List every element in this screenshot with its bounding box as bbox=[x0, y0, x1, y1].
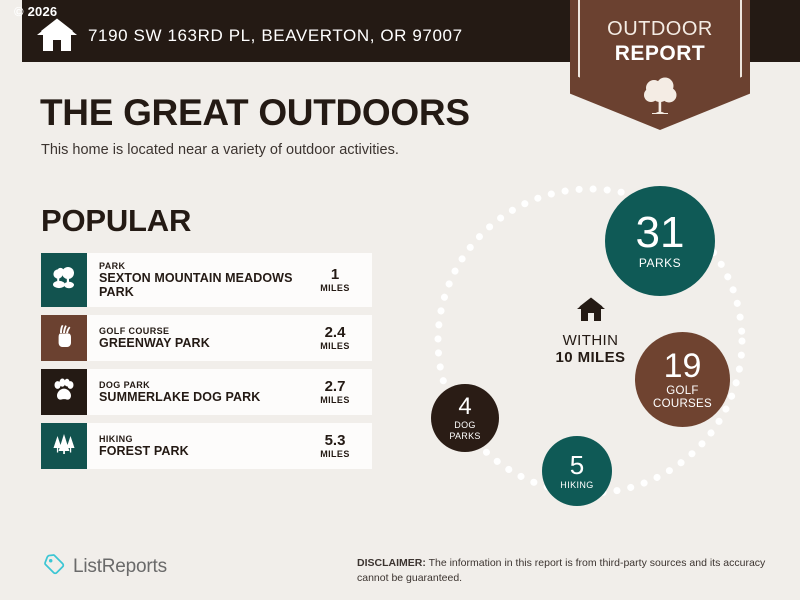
distance-value: 2.4 bbox=[325, 325, 346, 342]
list-item[interactable]: DOG PARK SUMMERLAKE DOG PARK 2.7 MILES bbox=[41, 369, 372, 415]
within-10-miles-diagram: 31 PARKS 19 GOLF COURSES 5 HIKING 4 DOG … bbox=[420, 175, 780, 515]
stat-label: GOLF bbox=[653, 385, 712, 398]
list-item-body: DOG PARK SUMMERLAKE DOG PARK bbox=[87, 369, 304, 415]
diagram-center-line1: WITHIN bbox=[528, 332, 653, 349]
list-item-name: FOREST PARK bbox=[99, 444, 189, 458]
distance-unit: MILES bbox=[320, 395, 350, 405]
list-item-icon-box bbox=[41, 315, 87, 361]
list-item-body: PARK SEXTON MOUNTAIN MEADOWS PARK bbox=[87, 253, 304, 307]
distance-unit: MILES bbox=[320, 449, 350, 459]
list-item-category: HIKING bbox=[99, 434, 189, 444]
pine-trees-icon bbox=[51, 431, 77, 462]
house-icon bbox=[576, 309, 606, 326]
disclaimer: DISCLAIMER: The information in this repo… bbox=[357, 556, 777, 586]
distance-value: 2.7 bbox=[325, 379, 346, 396]
list-item-icon-box bbox=[41, 253, 87, 307]
listreports-logo[interactable]: ListReports bbox=[43, 553, 167, 580]
stat-label-line2: PARKS bbox=[449, 431, 480, 441]
list-item-body: GOLF COURSE GREENWAY PARK bbox=[87, 315, 304, 361]
golf-bag-icon bbox=[51, 323, 77, 354]
list-item-icon-box bbox=[41, 369, 87, 415]
list-item-category: DOG PARK bbox=[99, 380, 260, 390]
stat-value: 19 bbox=[664, 349, 702, 383]
popular-list: PARK SEXTON MOUNTAIN MEADOWS PARK 1 MILE… bbox=[41, 253, 372, 477]
list-item[interactable]: HIKING FOREST PARK 5.3 MILES bbox=[41, 423, 372, 469]
list-item-category: PARK bbox=[99, 261, 293, 271]
outdoor-report-badge: OUTDOOR REPORT bbox=[570, 0, 750, 130]
property-address: 7190 SW 163RD PL, BEAVERTON, OR 97007 bbox=[88, 26, 463, 46]
list-item[interactable]: GOLF COURSE GREENWAY PARK 2.4 MILES bbox=[41, 315, 372, 361]
diagram-center: WITHIN 10 MILES bbox=[528, 297, 653, 366]
distance-value: 5.3 bbox=[325, 433, 346, 450]
disclaimer-label: DISCLAIMER: bbox=[357, 557, 426, 569]
listreports-logo-icon bbox=[43, 553, 65, 580]
tree-icon bbox=[642, 76, 678, 114]
park-trees-icon bbox=[51, 265, 77, 296]
list-item-body: HIKING FOREST PARK bbox=[87, 423, 304, 469]
list-item-name: GREENWAY PARK bbox=[99, 336, 210, 350]
outdoor-report-page: © 2026 7190 SW 163RD PL, BEAVERTON, OR 9… bbox=[0, 0, 800, 600]
copyright-watermark: © 2026 bbox=[14, 4, 57, 19]
list-item-distance: 1 MILES bbox=[304, 253, 372, 307]
badge-line2: REPORT bbox=[570, 42, 750, 66]
stat-value: 31 bbox=[636, 211, 685, 255]
listreports-logo-text: ListReports bbox=[73, 556, 167, 578]
distance-value: 1 bbox=[331, 267, 339, 284]
house-icon bbox=[36, 18, 78, 52]
page-title: THE GREAT OUTDOORS bbox=[40, 92, 470, 134]
list-item-name-line2: PARK bbox=[99, 285, 293, 299]
list-item[interactable]: PARK SEXTON MOUNTAIN MEADOWS PARK 1 MILE… bbox=[41, 253, 372, 307]
paw-print-icon bbox=[51, 377, 77, 408]
stat-circle-dog-parks: 4 DOG PARKS bbox=[431, 384, 499, 452]
stat-label: DOG bbox=[449, 420, 480, 430]
stat-label: PARKS bbox=[639, 257, 681, 270]
list-item-distance: 5.3 MILES bbox=[304, 423, 372, 469]
list-item-distance: 2.7 MILES bbox=[304, 369, 372, 415]
stat-circle-parks: 31 PARKS bbox=[605, 186, 715, 296]
stat-value: 4 bbox=[458, 395, 471, 419]
badge-line1: OUTDOOR bbox=[570, 18, 750, 41]
diagram-center-line2: 10 MILES bbox=[528, 349, 653, 366]
list-item-name: SUMMERLAKE DOG PARK bbox=[99, 390, 260, 404]
list-item-category: GOLF COURSE bbox=[99, 326, 210, 336]
distance-unit: MILES bbox=[320, 341, 350, 351]
distance-unit: MILES bbox=[320, 283, 350, 293]
page-subtitle: This home is located near a variety of o… bbox=[41, 142, 399, 158]
stat-value: 5 bbox=[570, 452, 584, 478]
stat-circle-hiking: 5 HIKING bbox=[542, 436, 612, 506]
stat-label: HIKING bbox=[560, 480, 593, 490]
popular-section-title: POPULAR bbox=[41, 203, 191, 239]
stat-label-line2: COURSES bbox=[653, 398, 712, 411]
list-item-name: SEXTON MOUNTAIN MEADOWS bbox=[99, 271, 293, 285]
list-item-icon-box bbox=[41, 423, 87, 469]
list-item-distance: 2.4 MILES bbox=[304, 315, 372, 361]
